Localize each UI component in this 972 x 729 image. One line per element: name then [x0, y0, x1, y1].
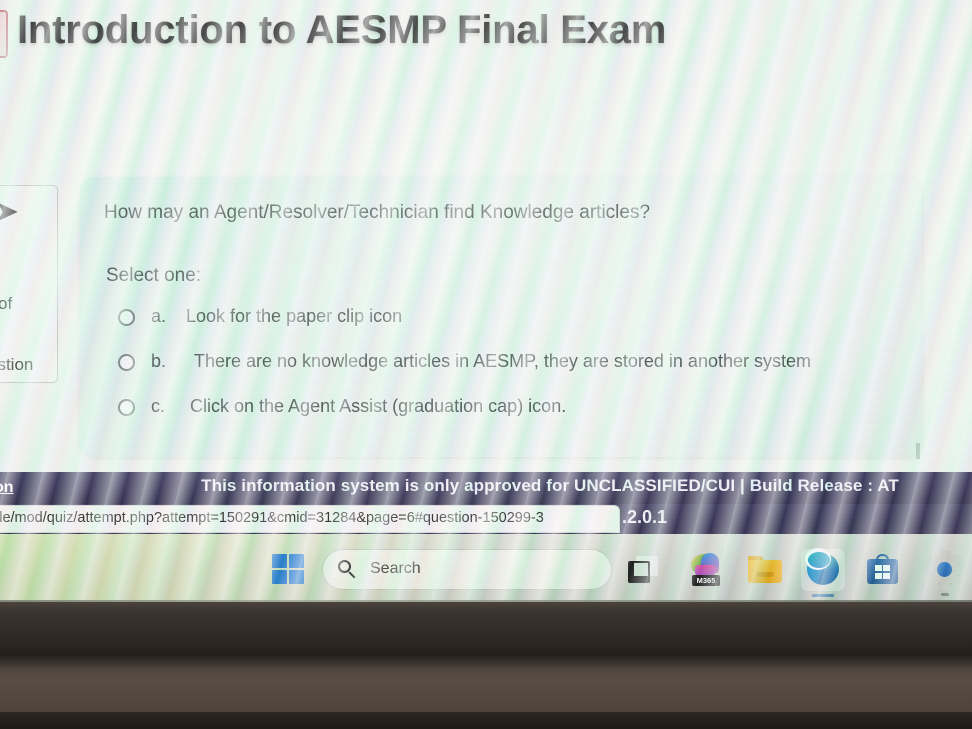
microsoft-store-icon[interactable] [861, 549, 905, 591]
classification-banner: This information system is only approved… [0, 472, 972, 504]
radio-button-a[interactable] [118, 309, 135, 326]
chevron-right-icon[interactable]: ➤ [0, 196, 18, 227]
edge-active-indicator [812, 594, 834, 598]
desk-front-edge [0, 712, 972, 729]
option-text-c: Click on the Agent Assist (graduation ca… [190, 396, 566, 417]
search-placeholder: Search [370, 560, 421, 578]
search-input[interactable] [322, 549, 612, 590]
task-view-icon[interactable] [622, 549, 666, 591]
option-letter-b: b. [151, 351, 166, 372]
sidebar-text-fragment-top: of [0, 294, 12, 314]
answer-option-a[interactable]: a. Look for the paper clip icon [118, 302, 908, 347]
m365-badge-label: M365 [692, 575, 720, 586]
settings-indicator-dot [941, 593, 949, 596]
edge-icon[interactable] [801, 549, 845, 591]
status-bar-url: lle/mod/quiz/attempt.php?attempt=150291&… [0, 510, 616, 526]
search-icon [338, 560, 356, 578]
settings-gear-icon[interactable] [923, 549, 967, 591]
option-text-a: Look for the paper clip icon [186, 306, 402, 327]
option-text-b: There are no knowledge articles in AESMP… [194, 351, 811, 372]
option-letter-a: a. [151, 306, 166, 327]
classification-banner-text: This information system is only approved… [64, 476, 972, 496]
build-version-text: .2.0.1 [622, 507, 667, 528]
file-explorer-icon[interactable] [743, 549, 787, 591]
sidebar-link-fragment[interactable]: on [0, 479, 14, 497]
page-title: Introduction to AESMP Final Exam [17, 8, 666, 53]
question-text: How may an Agent/Resolver/Technician fin… [104, 202, 904, 224]
radio-button-c[interactable] [118, 399, 135, 416]
m365-icon[interactable]: M365 [684, 549, 728, 591]
monitor-bezel: D≰LL [0, 602, 972, 654]
start-button[interactable] [272, 554, 306, 586]
option-letter-c: c. [151, 396, 165, 417]
answer-option-c[interactable]: c. Click on the Agent Assist (graduation… [118, 392, 908, 437]
text-cursor [916, 443, 920, 459]
answer-option-b[interactable]: b. There are no knowledge articles in AE… [118, 347, 908, 392]
answer-options-list: a. Look for the paper clip icon b. There… [118, 302, 908, 437]
desk-shadow [0, 654, 972, 670]
radio-button-b[interactable] [118, 354, 135, 371]
monitor-screen: Introduction to AESMP Final Exam ➤ of es… [0, 0, 972, 602]
photo-of-monitor: Introduction to AESMP Final Exam ➤ of es… [0, 0, 972, 729]
sidebar-text-fragment-bottom: estion [0, 355, 33, 375]
select-one-label: Select one: [106, 265, 201, 287]
page-left-edge-fragment [0, 10, 8, 58]
